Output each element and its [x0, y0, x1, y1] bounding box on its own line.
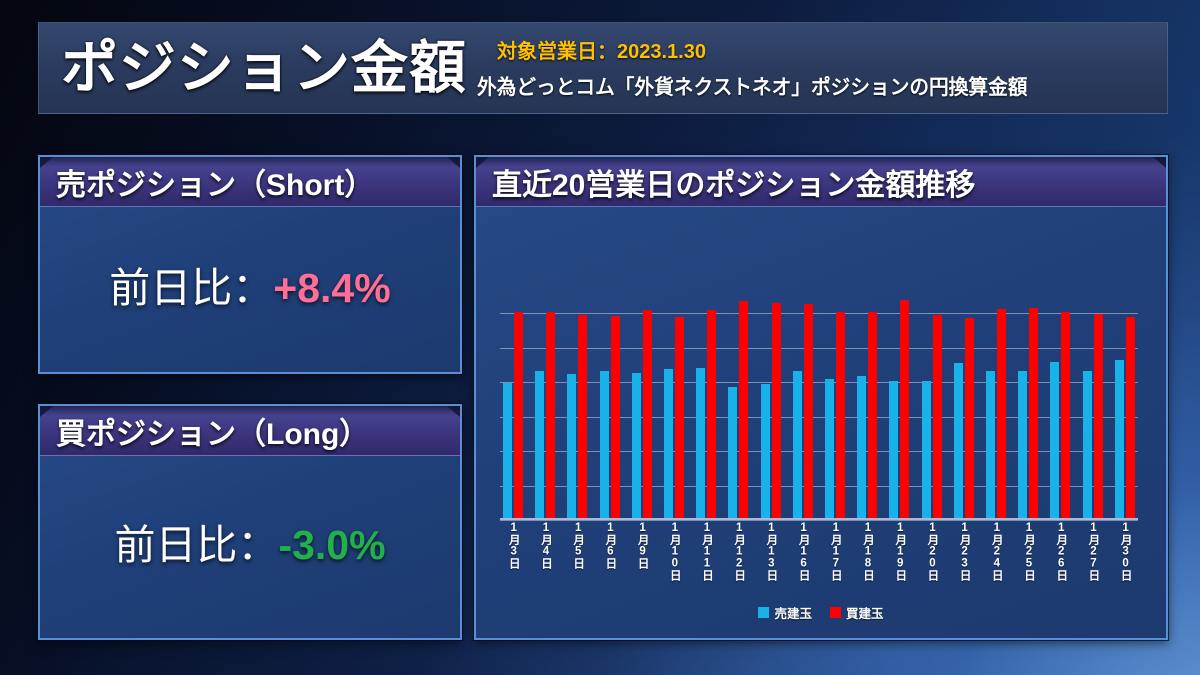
bar-sell	[1018, 371, 1027, 518]
x-axis-label: 1月10日	[661, 522, 687, 581]
bar-group	[758, 279, 784, 518]
target-business-date: 対象営業日：2023.1.30	[497, 35, 1050, 64]
legend-swatch-icon	[758, 607, 769, 618]
bar-sell	[986, 371, 995, 518]
bar-buy	[546, 312, 555, 518]
chart-header: 直近20営業日のポジション金額推移	[476, 157, 1166, 207]
bar-buy	[836, 312, 845, 518]
chart-plot-area	[500, 279, 1138, 520]
bar-sell	[567, 374, 576, 518]
bar-sell	[664, 369, 673, 518]
bar-buy	[514, 312, 523, 518]
bar-buy	[611, 316, 620, 518]
x-axis-label: 1月25日	[1015, 522, 1041, 581]
bar-group	[661, 279, 687, 518]
bar-buy	[997, 309, 1006, 518]
chart-x-axis-labels: 1月3日1月4日1月5日1月6日1月9日1月10日1月11日1月12日1月13日…	[500, 522, 1138, 586]
x-axis-label: 1月26日	[1047, 522, 1073, 581]
bevel-left-decoration	[40, 157, 53, 168]
bar-buy	[739, 301, 748, 518]
bar-buy	[578, 315, 587, 518]
x-axis-label: 1月24日	[983, 522, 1009, 581]
bar-sell	[696, 368, 705, 518]
bar-group	[532, 279, 558, 518]
short-position-header: 売ポジション（Short）	[40, 157, 460, 207]
bar-buy	[804, 304, 813, 518]
bevel-right-decoration	[447, 157, 460, 168]
bar-group	[597, 279, 623, 518]
chart-x-axis	[500, 518, 1138, 520]
bar-group	[1112, 279, 1138, 518]
bar-sell	[761, 384, 770, 518]
x-axis-label: 1月16日	[790, 522, 816, 581]
short-position-body: 前日比：+8.4%	[40, 207, 460, 372]
bar-sell	[825, 379, 834, 518]
bar-buy	[965, 318, 974, 518]
bar-sell	[857, 376, 866, 518]
short-position-title: 売ポジション（Short）	[56, 160, 374, 204]
bar-group	[629, 279, 655, 518]
short-position-panel: 売ポジション（Short） 前日比：+8.4%	[38, 155, 462, 374]
bar-buy	[707, 310, 716, 518]
x-axis-label: 1月5日	[564, 522, 590, 569]
long-position-panel: 買ポジション（Long） 前日比：-3.0%	[38, 404, 462, 640]
bevel-left-decoration	[476, 157, 489, 168]
bevel-right-decoration	[447, 406, 460, 417]
x-axis-label: 1月30日	[1112, 522, 1138, 581]
x-axis-label: 1月18日	[854, 522, 880, 581]
x-axis-label: 1月20日	[919, 522, 945, 581]
x-axis-label: 1月3日	[500, 522, 526, 569]
bar-group	[790, 279, 816, 518]
bar-sell	[728, 387, 737, 518]
bar-group	[854, 279, 880, 518]
short-change-value: +8.4%	[273, 265, 390, 311]
long-change-line: 前日比：-3.0%	[114, 511, 385, 571]
bar-buy	[1094, 314, 1103, 518]
bar-group	[886, 279, 912, 518]
bar-buy	[933, 315, 942, 518]
bar-sell	[922, 381, 931, 518]
long-position-title: 買ポジション（Long）	[56, 409, 369, 453]
bar-buy	[1029, 308, 1038, 518]
x-axis-label: 1月11日	[693, 522, 719, 581]
page-title: ポジション金額	[61, 40, 467, 97]
x-axis-label: 1月13日	[758, 522, 784, 581]
page-header: ポジション金額 対象営業日：2023.1.30 外為どっとコム「外貨ネクストネオ…	[38, 22, 1168, 114]
header-subtitle: 外為どっとコム「外貨ネクストネオ」ポジションの円換算金額	[477, 70, 1027, 100]
bar-sell	[1115, 360, 1124, 518]
bar-group	[1080, 279, 1106, 518]
legend-item: 買建玉	[830, 603, 884, 622]
bar-sell	[793, 371, 802, 518]
bar-group	[693, 279, 719, 518]
bar-sell	[1083, 371, 1092, 518]
bevel-left-decoration	[40, 406, 53, 417]
bar-group	[1015, 279, 1041, 518]
x-axis-label: 1月6日	[597, 522, 623, 569]
legend-label: 売建玉	[774, 603, 812, 622]
bar-buy	[643, 310, 652, 518]
bar-buy	[675, 317, 684, 518]
chart-body: 1月3日1月4日1月5日1月6日1月9日1月10日1月11日1月12日1月13日…	[476, 207, 1166, 638]
bar-group	[725, 279, 751, 518]
bar-sell	[632, 373, 641, 518]
bar-group	[983, 279, 1009, 518]
legend-label: 買建玉	[846, 603, 884, 622]
bar-buy	[900, 300, 909, 518]
long-change-value: -3.0%	[278, 522, 385, 568]
long-position-header: 買ポジション（Long）	[40, 406, 460, 456]
slide-background: ポジション金額 対象営業日：2023.1.30 外為どっとコム「外貨ネクストネオ…	[0, 0, 1200, 675]
bar-group	[500, 279, 526, 518]
x-axis-label: 1月17日	[822, 522, 848, 581]
bar-sell	[535, 371, 544, 518]
long-change-prefix: 前日比：	[114, 522, 278, 568]
legend-swatch-icon	[830, 607, 841, 618]
legend-item: 売建玉	[758, 603, 812, 622]
bar-buy	[1126, 317, 1135, 518]
bar-group	[1047, 279, 1073, 518]
bar-sell	[889, 381, 898, 518]
position-trend-chart-panel: 直近20営業日のポジション金額推移 1月3日1月4日1月5日1月6日1月9日1月…	[474, 155, 1168, 640]
x-axis-label: 1月23日	[951, 522, 977, 581]
bar-buy	[1061, 312, 1070, 518]
x-axis-label: 1月12日	[725, 522, 751, 581]
bar-sell	[600, 371, 609, 518]
chart-legend: 売建玉買建玉	[476, 603, 1166, 622]
x-axis-label: 1月27日	[1080, 522, 1106, 581]
short-change-prefix: 前日比：	[109, 265, 273, 311]
header-meta: 対象営業日：2023.1.30 外為どっとコム「外貨ネクストネオ」ポジションの円…	[477, 35, 1050, 102]
chart-title: 直近20営業日のポジション金額推移	[492, 160, 975, 204]
x-axis-label: 1月4日	[532, 522, 558, 569]
bar-buy	[772, 303, 781, 518]
bar-group	[822, 279, 848, 518]
bar-group	[951, 279, 977, 518]
bar-sell	[954, 363, 963, 518]
bar-sell	[1050, 362, 1059, 518]
x-axis-label: 1月19日	[886, 522, 912, 581]
bar-group	[564, 279, 590, 518]
bar-buy	[868, 312, 877, 518]
long-position-body: 前日比：-3.0%	[40, 456, 460, 638]
bevel-right-decoration	[1153, 157, 1166, 168]
gridline	[500, 520, 1138, 521]
bar-group	[919, 279, 945, 518]
bar-sell	[503, 383, 512, 518]
chart-bars	[500, 279, 1138, 518]
x-axis-label: 1月9日	[629, 522, 655, 569]
short-change-line: 前日比：+8.4%	[109, 254, 390, 314]
